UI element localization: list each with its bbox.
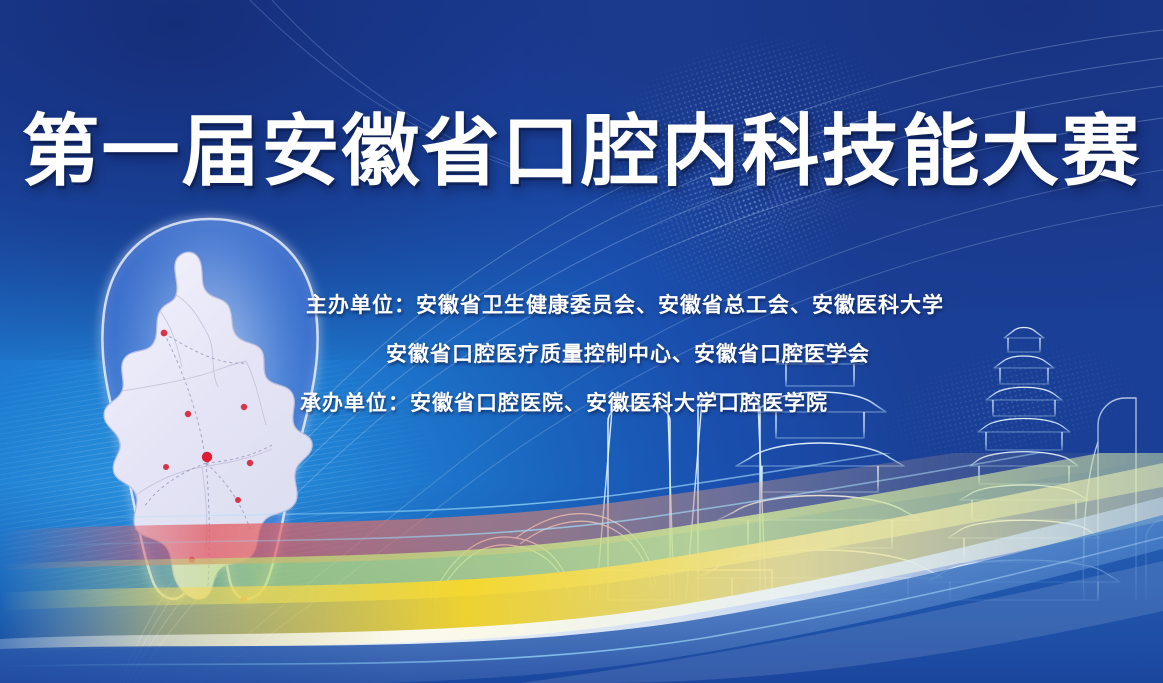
rainbow-ribbon-graphic [0,453,1163,683]
organizer-line-1: 主办单位：安徽省卫生健康委员会、安徽省总工会、安徽医科大学 [306,292,930,319]
organizer-credits: 主办单位：安徽省卫生健康委员会、安徽省总工会、安徽医科大学 安徽省口腔医疗质量控… [250,292,930,417]
page-title: 第一届安徽省口腔内科技能大赛 [0,112,1163,190]
organizer-line-2: 安徽省口腔医疗质量控制中心、安徽省口腔医学会 [386,341,930,368]
organizer-line-3: 承办单位：安徽省口腔医院、安徽医科大学口腔医学院 [300,390,930,417]
poster-canvas: 第一届安徽省口腔内科技能大赛 主办单位：安徽省卫生健康委员会、安徽省总工会、安徽… [0,0,1163,683]
